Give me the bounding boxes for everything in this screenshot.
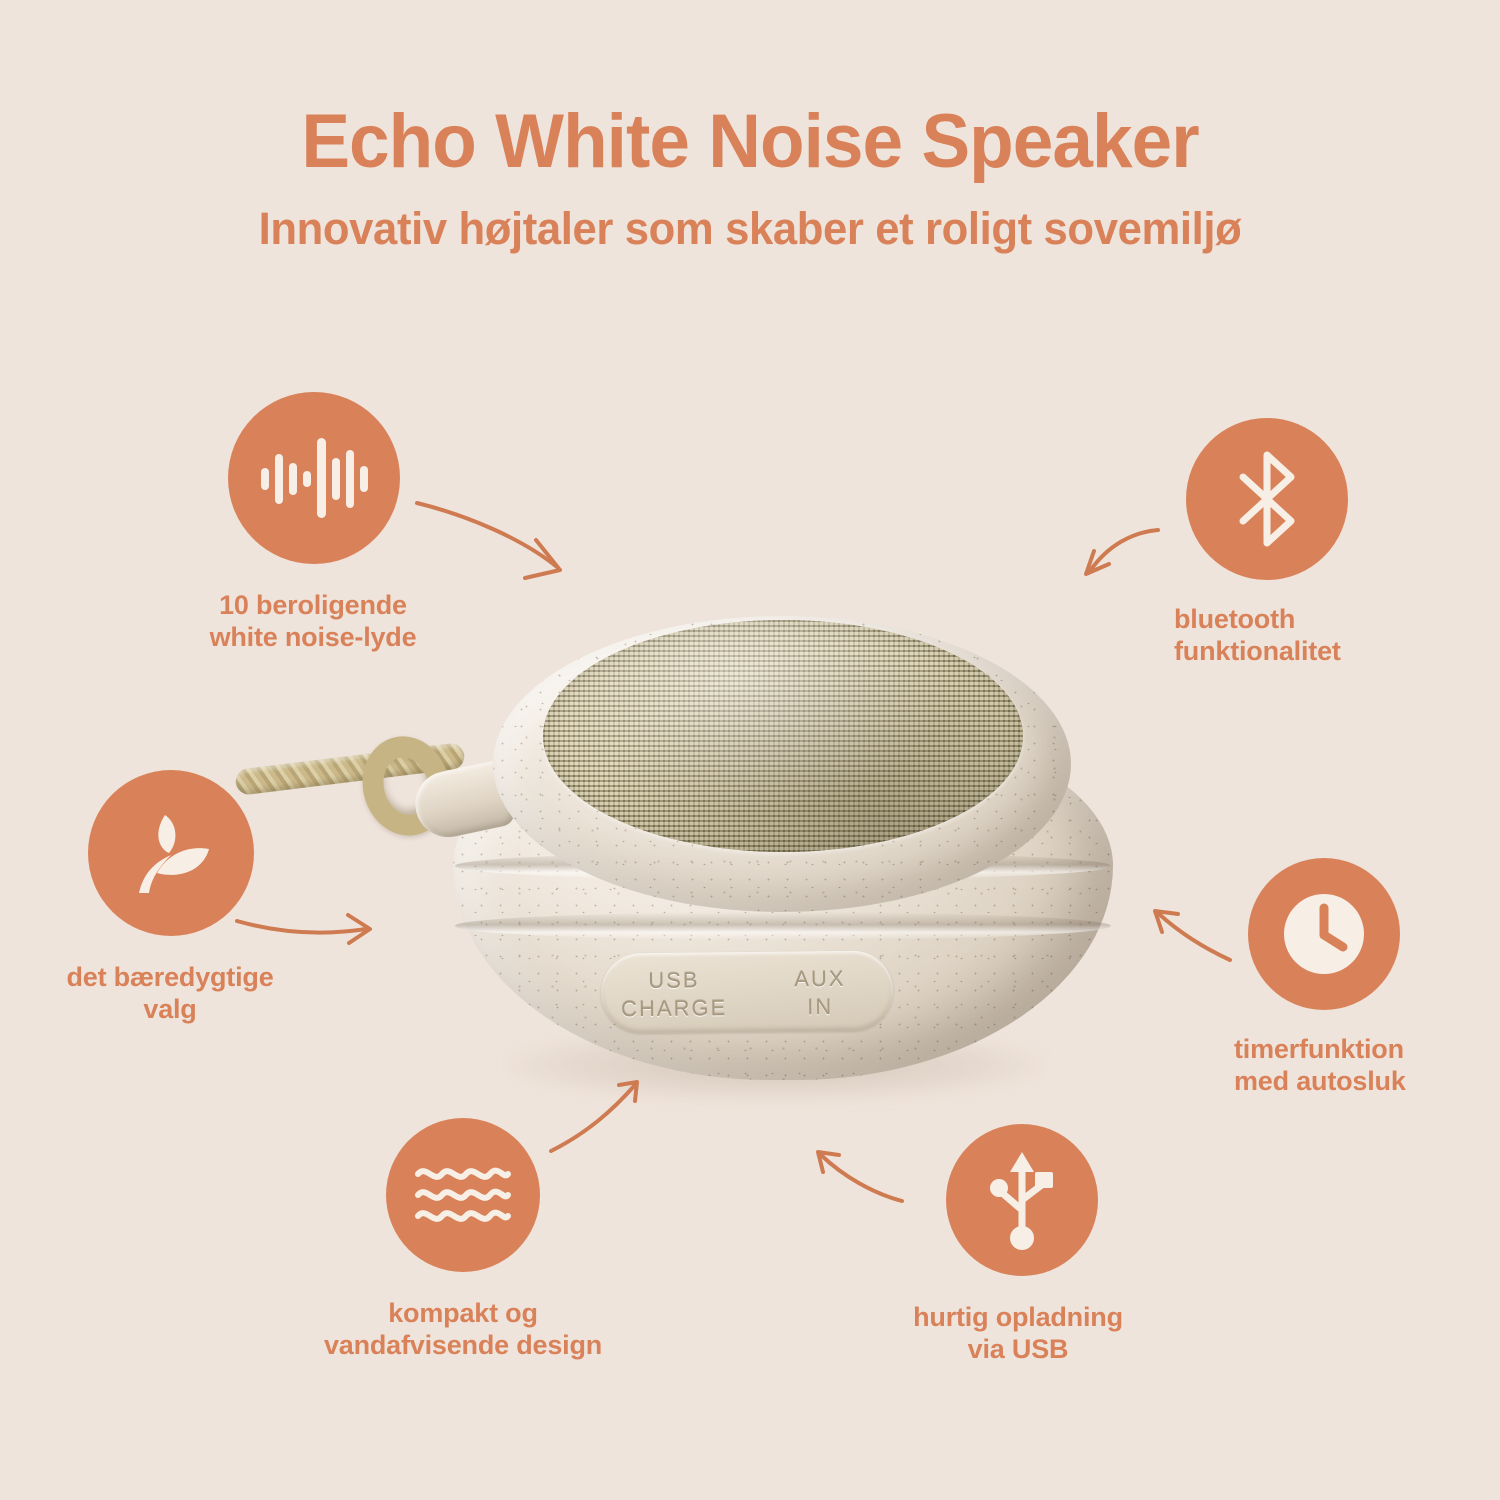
- page-subtitle: Innovativ højtaler som skaber et roligt …: [23, 180, 1478, 251]
- usb-icon: [946, 1124, 1098, 1276]
- feature-timer[interactable]: timerfunktion med autosluk: [1248, 858, 1500, 1098]
- clock-glyph: [1277, 887, 1371, 981]
- port-label-charge: CHARGE: [601, 995, 747, 1023]
- port-panel: USB AUX CHARGE IN: [601, 950, 894, 1033]
- feature-sound[interactable]: 10 beroligende white noise-lyde: [218, 392, 578, 654]
- port-label-aux: AUX: [747, 965, 893, 993]
- feature-waterproof-label: kompakt og vandafvisende design: [303, 1298, 623, 1362]
- arrow-usb: [821, 1155, 902, 1201]
- sound-wave-icon: [228, 392, 400, 564]
- arrow-timer: [1159, 914, 1230, 960]
- arrow-usb-head: [818, 1152, 839, 1172]
- feature-sustainable[interactable]: det bæredygtige valg: [72, 770, 402, 1026]
- speaker-fabric-grille: [543, 620, 1023, 852]
- page-title: Echo White Noise Speaker: [30, 0, 1470, 180]
- feature-sound-label: 10 beroligende white noise-lyde: [163, 590, 463, 654]
- port-label-usb: USB: [601, 967, 747, 995]
- sound-wave-glyph: [259, 432, 369, 524]
- water-waves-glyph: [414, 1162, 512, 1228]
- leaf-glyph: [123, 805, 219, 901]
- feature-bluetooth[interactable]: bluetooth funktionalitet: [1178, 418, 1500, 668]
- feature-sustainable-label: det bæredygtige valg: [50, 962, 290, 1026]
- body-groove-lower: [455, 912, 1111, 940]
- feature-bluetooth-label: bluetooth funktionalitet: [1174, 604, 1500, 668]
- header: Echo White Noise Speaker Innovativ højta…: [0, 0, 1500, 251]
- arrow-timer-head: [1155, 911, 1178, 932]
- leaf-icon: [88, 770, 254, 936]
- port-label-in: IN: [747, 993, 893, 1021]
- clock-icon: [1248, 858, 1400, 1010]
- feature-timer-label: timerfunktion med autosluk: [1234, 1034, 1500, 1098]
- bluetooth-icon: [1186, 418, 1348, 580]
- feature-usb[interactable]: hurtig opladning via USB: [938, 1124, 1248, 1366]
- infographic-canvas: Echo White Noise Speaker Innovativ højta…: [0, 0, 1500, 1500]
- water-waves-icon: [386, 1118, 540, 1272]
- feature-usb-label: hurtig opladning via USB: [888, 1302, 1148, 1366]
- bluetooth-glyph: [1229, 449, 1305, 549]
- feature-waterproof[interactable]: kompakt og vandafvisende design: [378, 1118, 708, 1362]
- usb-glyph: [982, 1148, 1062, 1252]
